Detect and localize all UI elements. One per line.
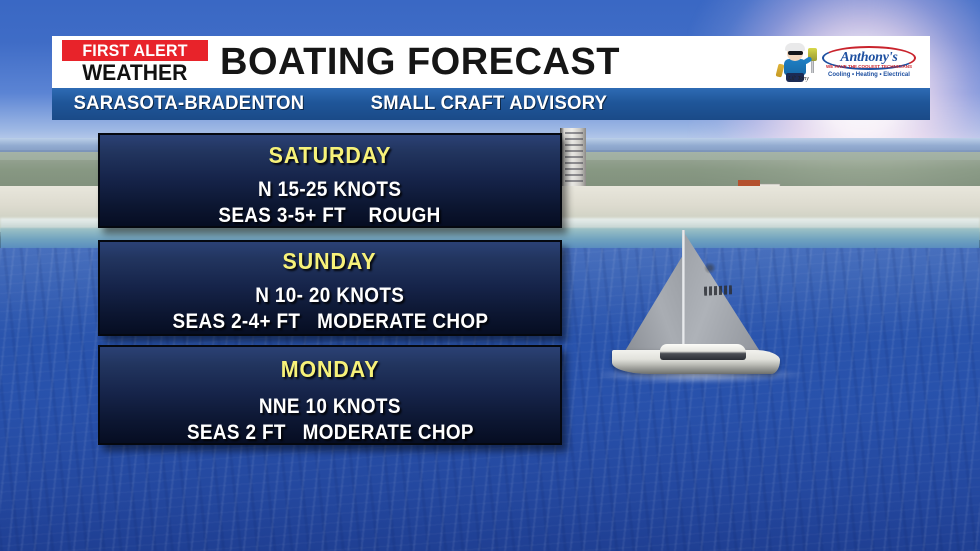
- sponsor-brand: Anthony's WE HAVE THE COOLEST TECHNICIAN…: [820, 42, 920, 82]
- first-alert-weather-logo: FIRST ALERT WEATHER: [62, 40, 208, 84]
- first-alert-banner: FIRST ALERT: [62, 40, 208, 61]
- first-alert-text: FIRST ALERT: [82, 41, 187, 61]
- boat-cabin: [660, 344, 746, 360]
- forecast-seas-label: SEAS 2 FT MODERATE CHOP: [187, 421, 474, 445]
- subtitle-bar: SARASOTA-BRADENTON SMALL CRAFT ADVISORY: [52, 88, 930, 120]
- sail-emblem: [702, 262, 718, 274]
- sponsor-logo: Lil' Tony Anthony's WE HAVE THE COOLEST …: [768, 39, 924, 85]
- header-bar: FIRST ALERT WEATHER BOATING FORECAST Lil…: [52, 36, 930, 88]
- main-sail: [683, 234, 765, 356]
- brand-tagline: WE HAVE THE COOLEST TECHNICIANS: [820, 64, 918, 69]
- jib-sail: [622, 250, 686, 356]
- mascot-sunglasses-icon: [788, 51, 803, 55]
- mascot-cap: [785, 43, 805, 51]
- mascot-icon: Lil' Tony: [774, 40, 820, 84]
- advisory-label: SMALL CRAFT ADVISORY: [371, 91, 608, 117]
- brand-services: Cooling • Heating • Electrical: [820, 72, 918, 78]
- boating-forecast-graphic: FIRST ALERT WEATHER BOATING FORECAST Lil…: [0, 0, 980, 551]
- forecast-seas-label: SEAS 2-4+ FT MODERATE CHOP: [172, 310, 488, 334]
- mast: [682, 230, 685, 358]
- weather-text: WEATHER: [82, 60, 187, 86]
- sail-lettering: [704, 285, 732, 295]
- location-label: SARASOTA-BRADENTON: [74, 91, 305, 117]
- forecast-panel-monday: MONDAY NNE 10 KNOTS SEAS 2 FT MODERATE C…: [98, 345, 562, 445]
- weather-wordmark: WEATHER: [62, 61, 208, 84]
- forecast-panel-sunday: SUNDAY N 10- 20 KNOTS SEAS 2-4+ FT MODER…: [98, 240, 562, 336]
- forecast-day-label: SUNDAY: [283, 248, 377, 275]
- forecast-day-label: SATURDAY: [269, 142, 392, 169]
- forecast-wind-label: NNE 10 KNOTS: [259, 395, 401, 419]
- forecast-day-label: MONDAY: [281, 356, 380, 383]
- forecast-panel-saturday: SATURDAY N 15-25 KNOTS SEAS 3-5+ FT ROUG…: [98, 133, 562, 228]
- sailboat-icon: [598, 228, 828, 378]
- mascot-signature: Lil' Tony: [788, 76, 809, 82]
- forecast-wind-label: N 10- 20 KNOTS: [256, 284, 405, 308]
- page-title: BOATING FORECAST: [220, 38, 620, 86]
- forecast-wind-label: N 15-25 KNOTS: [258, 178, 401, 202]
- forecast-seas-label: SEAS 3-5+ FT ROUGH: [219, 204, 441, 228]
